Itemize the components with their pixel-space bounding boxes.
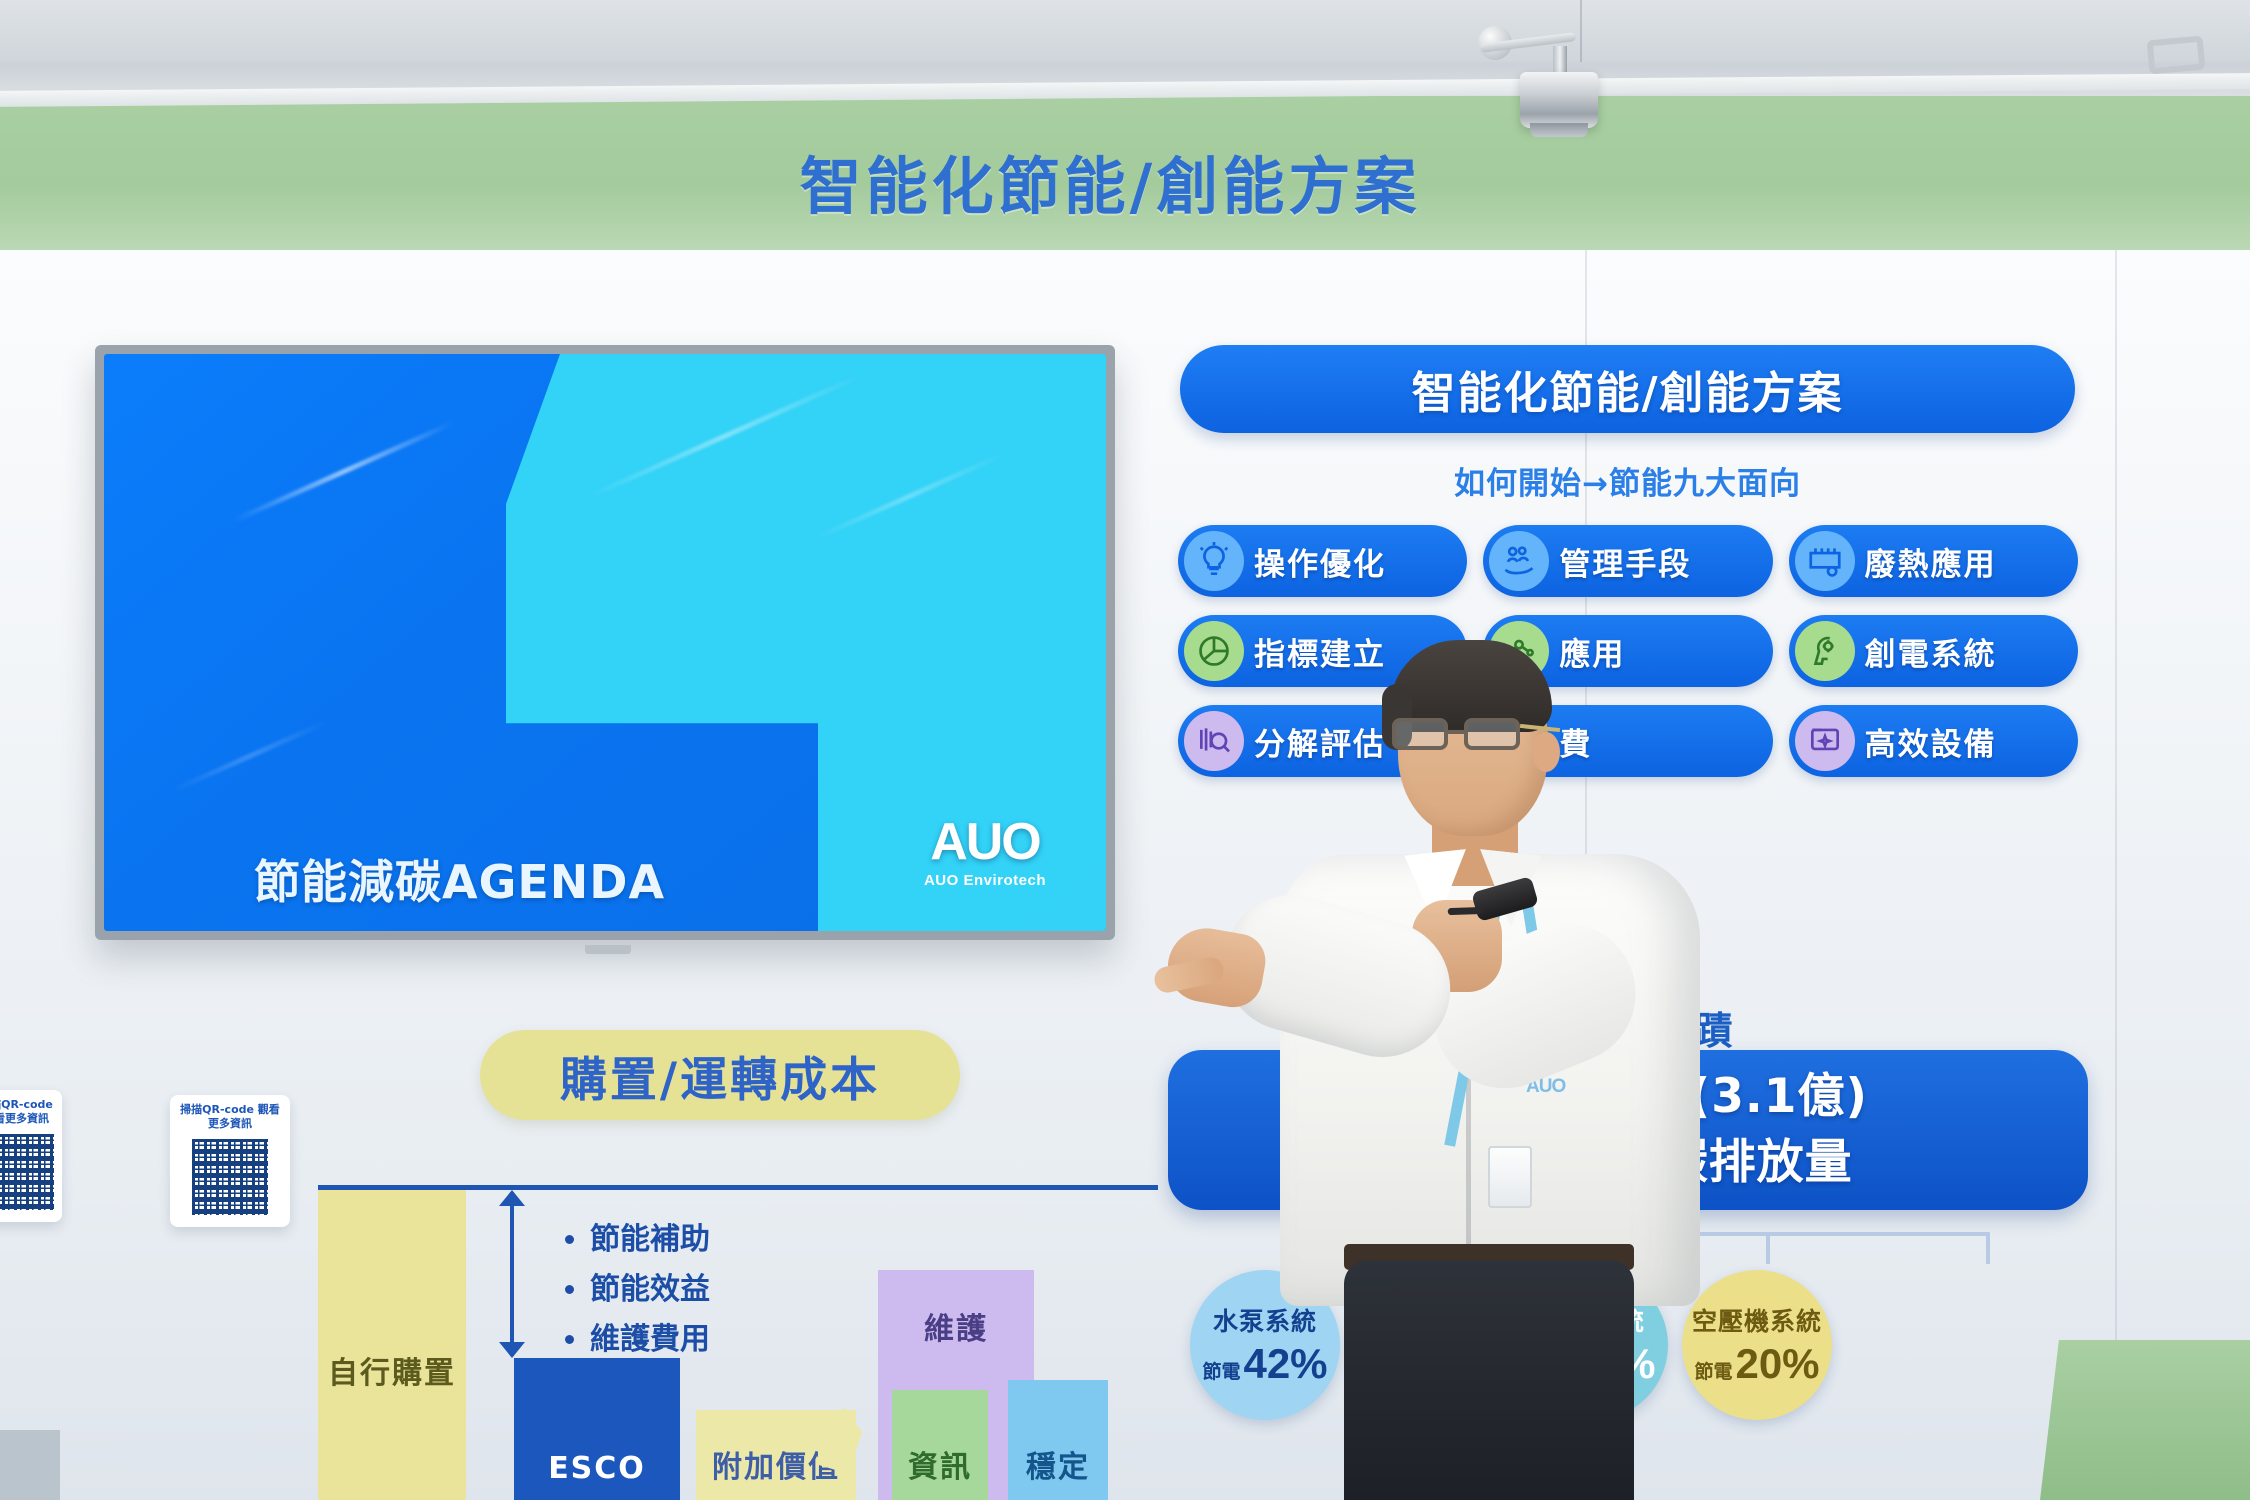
- poster-subheader: 如何開始→節能九大面向: [1180, 458, 2075, 503]
- cost-benefit-bullets: 節能補助 節能效益 維護費用: [560, 1215, 710, 1365]
- benefit-bullet: 節能補助: [590, 1215, 710, 1265]
- qr-caption: 掃描QR-code 觀看更多資訊: [176, 1103, 284, 1131]
- aspect-chip-label: 創電系統: [1865, 629, 1997, 674]
- aspect-chip-high-efficiency-equipment[interactable]: 高效設備: [1789, 705, 2078, 777]
- presenter: AUO: [1280, 640, 1700, 1500]
- qr-card[interactable]: 掃描QR-code 觀看更多資訊: [170, 1095, 290, 1227]
- ceiling-strip: [0, 0, 2250, 62]
- factory-icon: [1795, 531, 1855, 591]
- presentation-display: 節能減碳AGENDA 宇沛節能服務 節能案例、作法分享(九大面向) 機電工程/無…: [95, 345, 1115, 940]
- brain-idea-icon: [1795, 621, 1855, 681]
- lightbulb-icon: [1184, 531, 1244, 591]
- device-sparkle-icon: [1795, 711, 1855, 771]
- auo-logo-mark: AUO: [924, 816, 1046, 868]
- exhibition-booth-photo: 智能化節能/創能方案 節能減碳AGENDA 宇沛節能服務 節能案例、作法分享(九…: [0, 0, 2250, 1500]
- aspect-chip-label: 高效設備: [1865, 719, 1997, 764]
- aspect-chip-label: 廢熱應用: [1865, 539, 1997, 584]
- stat-name: 空壓機系統: [1692, 1302, 1822, 1338]
- stat-value-label: 節電: [1694, 1363, 1732, 1383]
- cost-chart-bars: 自行購置 維護 資訊 穩定 附加價值 ESCO: [318, 1190, 1158, 1500]
- qr-card[interactable]: 掃描QR-code 觀看更多資訊: [0, 1090, 62, 1222]
- cost-bar-label: 自行購置: [318, 1354, 466, 1394]
- slide-title: 節能減碳AGENDA: [254, 846, 665, 912]
- aspect-chip-label: 操作優化: [1254, 539, 1386, 584]
- floor-plinth-right: [2040, 1340, 2250, 1500]
- cost-bar-label: 資訊: [892, 1442, 988, 1486]
- stat-air-compressor-system: 空壓機系統 節電 20%: [1682, 1270, 1832, 1420]
- aspect-chip-operation-optimization[interactable]: 操作優化: [1178, 525, 1467, 597]
- slide-streak: [170, 720, 327, 794]
- poster-header-text: 智能化節能/創能方案: [1411, 357, 1843, 421]
- cost-bar-esco: ESCO: [514, 1358, 680, 1500]
- cost-bar-label: 穩定: [1008, 1442, 1108, 1486]
- slide-canvas: 節能減碳AGENDA 宇沛節能服務 節能案例、作法分享(九大面向) 機電工程/無…: [104, 354, 1106, 931]
- cost-chart-title: 購置/運轉成本: [560, 1041, 880, 1110]
- auo-logo-subtitle: AUO Envirotech: [924, 872, 1046, 889]
- presenter-trousers: [1344, 1260, 1634, 1500]
- poster-header-pill: 智能化節能/創能方案: [1180, 345, 2075, 433]
- ceiling-clip: [2147, 36, 2206, 75]
- cost-chart-title-pill: 購置/運轉成本: [480, 1030, 960, 1120]
- pie-chart-icon: [1184, 621, 1244, 681]
- aspect-chip-management-methods[interactable]: 管理手段: [1483, 525, 1772, 597]
- aspect-chip-waste-heat-application[interactable]: 廢熱應用: [1789, 525, 2078, 597]
- slide-streak: [233, 420, 454, 522]
- qr-code-icon: [188, 1135, 272, 1219]
- glasses-icon: [1392, 718, 1542, 752]
- floor-plinth-left: [0, 1430, 60, 1500]
- cost-bar-label: ESCO: [514, 1451, 680, 1486]
- presenter-id-badge: [1488, 1146, 1532, 1208]
- benefit-bullet: 維護費用: [590, 1315, 710, 1365]
- aspect-chip-label: 管理手段: [1559, 539, 1691, 584]
- venue-banner-title: 智能化節能/創能方案: [690, 136, 1530, 226]
- qr-caption: 掃描QR-code 觀看更多資訊: [0, 1098, 56, 1126]
- aspect-chip-power-generation-system[interactable]: 創電系統: [1789, 615, 2078, 687]
- spotlight-icon: [1520, 72, 1598, 128]
- magnifier-analysis-icon: [1184, 711, 1244, 771]
- stat-value-label: 節電: [1202, 1363, 1240, 1383]
- cost-bar-information: 資訊: [892, 1390, 988, 1500]
- cost-bar-self-purchase: 自行購置: [318, 1190, 466, 1500]
- stat-value: 20%: [1735, 1340, 1819, 1388]
- benefit-bullet: 節能效益: [590, 1265, 710, 1315]
- display-brand-badge: [585, 945, 631, 954]
- auo-logo: AUO AUO Envirotech: [924, 816, 1046, 889]
- wall-seam: [2115, 250, 2117, 1500]
- cost-bar-stability: 穩定: [1008, 1380, 1108, 1500]
- qr-code-icon: [0, 1130, 58, 1214]
- savings-arrow-icon: [510, 1192, 514, 1356]
- people-hand-icon: [1489, 531, 1549, 591]
- cost-bar-label: 維護: [878, 1304, 1034, 1348]
